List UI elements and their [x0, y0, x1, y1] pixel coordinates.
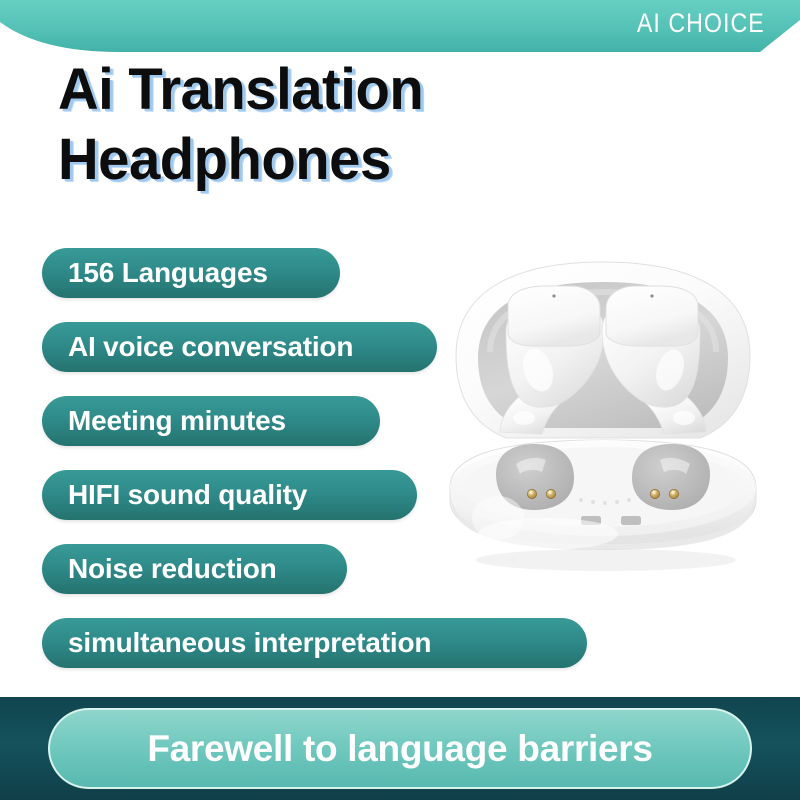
product-shadow — [476, 549, 736, 571]
case-base — [450, 440, 756, 550]
feature-pill-label: AI voice conversation — [68, 322, 353, 372]
feature-pill-label: Noise reduction — [68, 544, 277, 594]
product-image — [438, 248, 768, 598]
hinge-tab-right — [621, 516, 641, 525]
feature-pill: simultaneous interpretation — [42, 618, 587, 668]
mic-hole-right — [650, 294, 653, 297]
feature-pill-label: HIFI sound quality — [68, 470, 307, 520]
feature-pill: Meeting minutes — [42, 396, 380, 446]
footer-tagline-pill: Farewell to language barriers — [48, 708, 752, 789]
earbuds-case-illustration — [438, 248, 768, 598]
product-poster: AI CHOICE Ai Translation Headphones 156 … — [0, 0, 800, 800]
feature-pill: HIFI sound quality — [42, 470, 417, 520]
page-title: Ai Translation Headphones — [58, 55, 578, 195]
footer-banner: Farewell to language barriers — [0, 697, 800, 800]
feature-pill-label: simultaneous interpretation — [68, 618, 431, 668]
footer-tagline-label: Farewell to language barriers — [50, 710, 750, 787]
case-lid — [456, 262, 750, 438]
feature-pill-label: Meeting minutes — [68, 396, 286, 446]
page-title-line-1: Ai Translation — [58, 55, 562, 125]
feature-pill: 156 Languages — [42, 248, 340, 298]
feature-pill-label: 156 Languages — [68, 248, 268, 298]
page-title-line-2: Headphones — [58, 125, 562, 195]
feature-pill: AI voice conversation — [42, 322, 437, 372]
charging-socket-right — [632, 444, 710, 510]
header-label: AI CHOICE — [637, 6, 765, 40]
mic-hole-left — [552, 294, 555, 297]
feature-pill: Noise reduction — [42, 544, 347, 594]
header-banner: AI CHOICE — [0, 0, 800, 56]
